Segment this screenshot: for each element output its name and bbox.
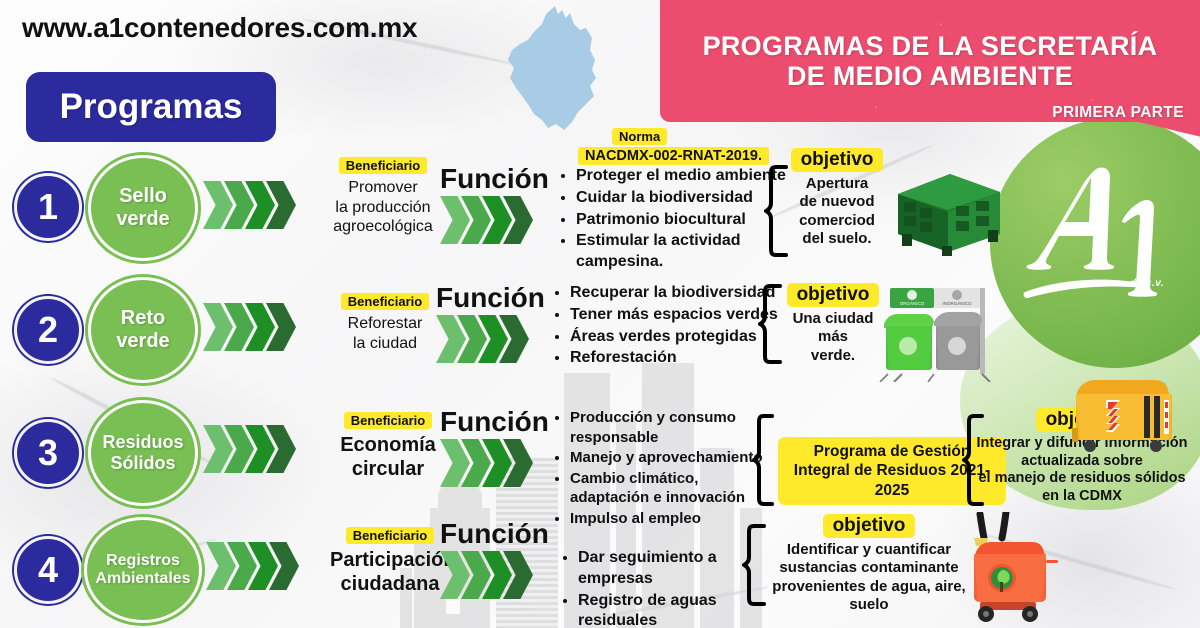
bullet-item: Proteger el medio ambiente	[576, 166, 788, 187]
site-url[interactable]: www.a1contenedores.com.mx	[22, 12, 417, 44]
orange-container-image	[1068, 368, 1180, 456]
header-title-line2: DE MEDIO AMBIENTE	[787, 61, 1073, 91]
arrow-chevrons	[440, 439, 524, 487]
svg-text:INORGÁNICO: INORGÁNICO	[942, 300, 972, 306]
objetivo-block: objetivo Una ciudad más verde.	[780, 283, 886, 365]
program-name-line2: Ambientales	[95, 570, 190, 588]
row-number-badge: 3	[14, 419, 82, 487]
red-wheelie-bin-image	[962, 512, 1067, 622]
arrow-chevrons	[206, 542, 290, 590]
bullet-item: Cambio climático, adaptación e innovació…	[570, 469, 766, 508]
cdmx-map-silhouette	[500, 4, 615, 136]
funcion-label: Función	[440, 163, 549, 195]
beneficiario-block: Beneficiario Economía circular	[330, 412, 446, 482]
funcion-label: Función	[440, 406, 549, 438]
beneficiario-block: Beneficiario Promover la producción agro…	[328, 157, 438, 237]
beneficiario-block: Beneficiario Participación ciudadana	[330, 527, 450, 597]
program-name-line1: Reto	[116, 307, 169, 330]
arrow-chevrons	[203, 425, 287, 473]
bullet-item: Reforestación	[570, 348, 778, 369]
bullet-item: Estimular la actividad campesina.	[576, 231, 788, 273]
beneficiario-text: Participación ciudadana	[330, 548, 450, 597]
a1-logo[interactable]: s.a. de c.v.	[1002, 150, 1182, 325]
objetivo-tag: objetivo	[787, 283, 880, 307]
programas-pill: Programas	[26, 72, 276, 142]
arrow-chevrons	[436, 315, 520, 363]
bullet-list: Recuperar la biodiversidad Tener más esp…	[552, 283, 778, 370]
beneficiario-tag: Beneficiario	[346, 527, 434, 544]
arrow-chevrons	[203, 303, 287, 351]
beneficiario-text: Reforestar la ciudad	[330, 314, 440, 353]
green-pallet-crate-image	[888, 168, 1006, 256]
bullet-item: Cuidar la biodiversidad	[576, 188, 788, 209]
curly-brace	[752, 414, 776, 506]
beneficiario-tag: Beneficiario	[339, 157, 427, 174]
program-circle[interactable]: Registros Ambientales	[84, 517, 202, 623]
bullet-item: Patrimonio biocultural	[576, 210, 788, 231]
norma-block: Norma	[612, 128, 812, 146]
infographic-canvas: s.a. de c.v. PROGRAMAS DE LA SECRETARÍA …	[0, 0, 1200, 628]
organic-inorganic-bins-image: ORGÁNICO INORGÁNICO	[872, 286, 1012, 382]
program-circle[interactable]: Reto verde	[88, 277, 198, 383]
row-number-badge: 4	[14, 536, 82, 604]
objetivo-tag: objetivo	[791, 148, 884, 172]
bullet-item: Recuperar la biodiversidad	[570, 283, 778, 304]
norma-value: NACDMX-002-RNAT-2019.	[578, 147, 769, 165]
program-name-line2: Sólidos	[102, 453, 183, 474]
bullet-list: Proteger el medio ambiente Cuidar la bio…	[558, 166, 788, 274]
svg-text:ORGÁNICO: ORGÁNICO	[900, 300, 925, 306]
objetivo-block: objetivo Identificar y cuantificar susta…	[762, 514, 976, 614]
program-name-line2: verde	[116, 330, 169, 353]
program-circle[interactable]: Residuos Sólidos	[88, 400, 198, 506]
bullet-item: Áreas verdes protegidas	[570, 327, 778, 348]
objetivo-tag: objetivo	[823, 514, 916, 538]
beneficiario-tag: Beneficiario	[341, 293, 429, 310]
row-number-badge: 1	[14, 173, 82, 241]
funcion-label: Función	[440, 518, 549, 550]
beneficiario-tag: Beneficiario	[344, 412, 432, 429]
row-number-badge: 2	[14, 296, 82, 364]
program-name-line2: verde	[116, 208, 169, 231]
arrow-chevrons	[440, 551, 524, 599]
bullet-item: Producción y consumo responsable	[570, 408, 766, 447]
programas-pill-label: Programas	[60, 87, 243, 127]
objetivo-text: Apertura de nuevod comerciod del suelo.	[778, 175, 896, 248]
norma-tag: Norma	[612, 128, 667, 145]
program-name-line1: Sello	[116, 185, 169, 208]
funcion-label: Función	[436, 282, 545, 314]
bullet-list: Producción y consumo responsable Manejo …	[552, 408, 766, 529]
beneficiario-text: Promover la producción agroecológica	[328, 178, 438, 237]
beneficiario-block: Beneficiario Reforestar la ciudad	[330, 293, 440, 353]
bullet-item: Manejo y aprovechamiento	[570, 448, 766, 468]
objetivo-block: objetivo Apertura de nuevod comerciod de…	[778, 148, 896, 248]
beneficiario-text: Economía circular	[330, 433, 446, 482]
bullet-item: Tener más espacios verdes	[570, 305, 778, 326]
logo-tagline: s.a. de c.v.	[1108, 278, 1164, 289]
arrow-chevrons	[440, 196, 524, 244]
header-part-label: PRIMERA PARTE	[1052, 104, 1184, 122]
program-name-line1: Registros	[95, 552, 190, 570]
objetivo-text: Una ciudad más verde.	[780, 310, 886, 365]
program-name-line1: Residuos	[102, 432, 183, 453]
arrow-chevrons	[203, 181, 287, 229]
bullet-item: Impulso al empleo	[570, 509, 766, 529]
header-title-line1: PROGRAMAS DE LA SECRETARÍA	[703, 31, 1158, 61]
program-circle[interactable]: Sello verde	[88, 155, 198, 261]
objetivo-text: Identificar y cuantificar sustancias con…	[762, 541, 976, 614]
